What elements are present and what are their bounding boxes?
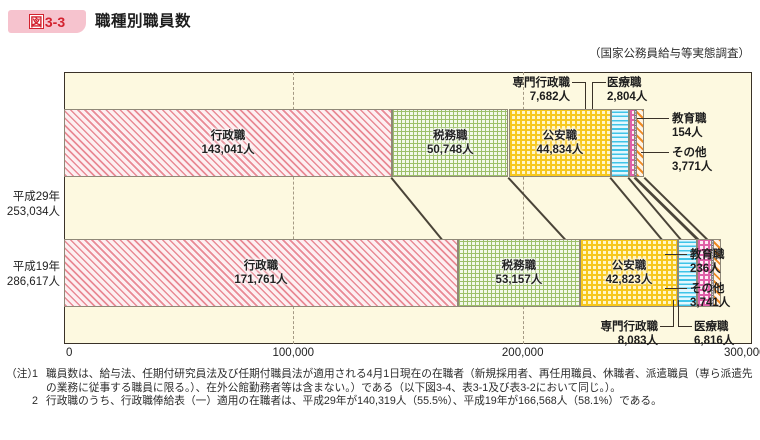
callout-name: その他 xyxy=(690,282,760,296)
segment-heisei19-zeimushoku[interactable]: 税務職 53,157人 xyxy=(458,239,580,307)
callout-heisei29-kyoikushoku: 教育職 154人 xyxy=(672,112,752,140)
segment-label-value: 44,834人 xyxy=(510,143,611,157)
segment-label-name: 税務職 xyxy=(393,129,507,143)
callout-value: 154人 xyxy=(672,126,752,140)
leader-heisei19-kyoikushoku-h xyxy=(665,254,687,255)
segment-heisei19-gyoseishoku[interactable]: 行政職 171,761人 xyxy=(64,239,458,307)
connector-edu xyxy=(635,177,702,243)
figure-badge-number: 3-3 xyxy=(45,14,65,30)
x-tick-100000: 100,000 xyxy=(273,347,315,359)
x-tick-0: 0 xyxy=(66,347,72,359)
leader-heisei29-iryoshoku-v xyxy=(592,82,593,109)
callout-heisei29-senmongyoseishoku: 専門行政職 7,682人 xyxy=(440,76,570,104)
callout-heisei19-kyoikushoku: 教育職 236人 xyxy=(690,248,760,276)
segment-label-value: 50,748人 xyxy=(393,143,507,157)
leader-heisei19-sonota-h xyxy=(665,288,687,289)
row-label-heisei19-total: 286,617人 xyxy=(2,275,60,290)
connector-admin xyxy=(391,177,446,244)
callout-heisei29-sonota: その他 3,771人 xyxy=(672,146,752,174)
segment-label-name: 行政職 xyxy=(65,129,391,143)
callout-name: その他 xyxy=(672,146,752,160)
segment-label-value: 171,761人 xyxy=(65,273,457,287)
segment-label-name: 公安職 xyxy=(581,259,677,273)
figure-badge: 図 3-3 xyxy=(8,10,86,33)
leader-heisei19-senmongyoseishoku-h xyxy=(660,326,674,327)
leader-heisei29-iryoshoku-h xyxy=(592,82,606,83)
segment-heisei29-senmongyoseishoku[interactable] xyxy=(611,109,629,177)
segment-label-value: 42,823人 xyxy=(581,273,677,287)
callout-value: 3,771人 xyxy=(672,160,752,174)
segment-label-value: 143,041人 xyxy=(65,143,391,157)
row-label-heisei29-year: 平成29年 xyxy=(2,190,60,205)
chart-content: 行政職 143,041人 税務職 50,748人 公安職 44,834人 行政職… xyxy=(64,72,752,344)
x-tick-200000: 200,000 xyxy=(502,347,544,359)
footnote-label: （注） xyxy=(6,368,32,382)
leader-heisei29-sonota-h xyxy=(641,152,669,153)
callout-name: 専門行政職 xyxy=(528,320,658,334)
segment-heisei29-zeimushoku[interactable]: 税務職 50,748人 xyxy=(392,109,508,177)
callout-heisei19-sonota: その他 3,741人 xyxy=(690,282,760,310)
y-axis-labels: 平成29年 253,034人 平成19年 286,617人 xyxy=(0,72,60,344)
callout-heisei29-iryoshoku: 医療職 2,804人 xyxy=(607,76,717,104)
segment-heisei29-koanshoku[interactable]: 公安職 44,834人 xyxy=(509,109,612,177)
row-label-heisei29: 平成29年 253,034人 xyxy=(2,190,60,220)
callout-name: 専門行政職 xyxy=(440,76,570,90)
segment-label-value: 53,157人 xyxy=(459,273,579,287)
callout-value: 2,804人 xyxy=(607,90,717,104)
page-title: 職種別職員数 xyxy=(95,9,191,31)
bar-heisei19[interactable]: 行政職 171,761人 税務職 53,157人 公安職 42,823人 xyxy=(64,239,722,307)
footnotes: （注） 1 職員数は、給与法、任期付研究員法及び任期付職員法が適用される4月1日… xyxy=(6,368,756,409)
leader-heisei19-iryoshoku-v xyxy=(678,300,679,326)
callout-value: 3,741人 xyxy=(690,296,760,310)
footnote-1: （注） 1 職員数は、給与法、任期付研究員法及び任期付職員法が適用される4月1日… xyxy=(6,368,756,395)
title-row: 図 3-3 職種別職員数 xyxy=(0,8,760,38)
leader-heisei19-senmongyoseishoku-v xyxy=(673,300,674,326)
footnote-1-number: 1 xyxy=(32,368,46,382)
row-label-heisei19: 平成19年 286,617人 xyxy=(2,260,60,290)
callout-name: 医療職 xyxy=(694,320,760,334)
leader-heisei29-kyoikushoku-h xyxy=(637,118,669,119)
leader-heisei29-senmongyoseishoku-v xyxy=(585,82,586,109)
callout-name: 医療職 xyxy=(607,76,717,90)
x-axis: 0 100,000 200,000 300,000 （人） xyxy=(64,344,752,366)
footnote-2-number: 2 xyxy=(32,395,46,409)
row-label-heisei29-total: 253,034人 xyxy=(2,205,60,220)
figure-badge-kanji: 図 xyxy=(29,14,44,29)
segment-label-name: 税務職 xyxy=(459,259,579,273)
footnote-2: 2 行政職のうち、行政職俸給表（一）適用の在職者は、平成29年が140,319人… xyxy=(6,395,756,409)
connector-tax xyxy=(507,177,569,244)
x-tick-300000: 300,000 xyxy=(724,347,760,359)
footnote-2-text: 行政職のうち、行政職俸給表（一）適用の在職者は、平成29年が140,319人（5… xyxy=(46,395,756,409)
callout-name: 教育職 xyxy=(690,248,760,262)
callout-value: 236人 xyxy=(690,262,760,276)
callout-name: 教育職 xyxy=(672,112,752,126)
callout-value: 7,682人 xyxy=(440,90,570,104)
bar-heisei29[interactable]: 行政職 143,041人 税務職 50,748人 公安職 44,834人 xyxy=(64,109,645,177)
segment-heisei29-gyoseishoku[interactable]: 行政職 143,041人 xyxy=(64,109,392,177)
leader-heisei19-iryoshoku-h xyxy=(678,326,692,327)
segment-label-name: 行政職 xyxy=(65,259,457,273)
segment-label-name: 公安職 xyxy=(510,129,611,143)
footnote-1-text: 職員数は、給与法、任期付研究員法及び任期付職員法が適用される4月1日現在の在職者… xyxy=(46,368,756,395)
segment-heisei19-koanshoku[interactable]: 公安職 42,823人 xyxy=(580,239,678,307)
row-label-heisei19-year: 平成19年 xyxy=(2,260,60,275)
source-note: （国家公務員給与等実態調査） xyxy=(589,45,750,61)
